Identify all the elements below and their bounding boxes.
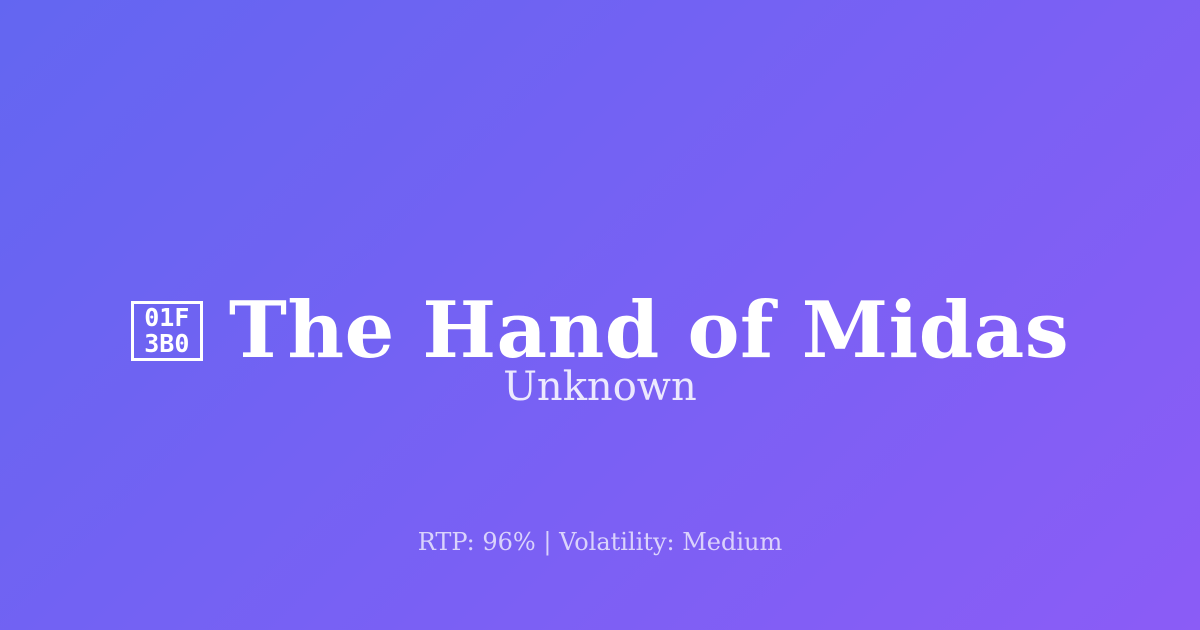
- game-stats: RTP: 96% | Volatility: Medium: [0, 527, 1200, 557]
- slot-machine-icon: 01F 3B0: [131, 301, 203, 361]
- tofu-codepoint-bottom: 3B0: [144, 331, 189, 357]
- game-share-card: 01F 3B0 The Hand of Midas Unknown RTP: 9…: [0, 0, 1200, 630]
- provider-name: Unknown: [0, 362, 1200, 412]
- tofu-codepoint-top: 01F: [144, 305, 189, 331]
